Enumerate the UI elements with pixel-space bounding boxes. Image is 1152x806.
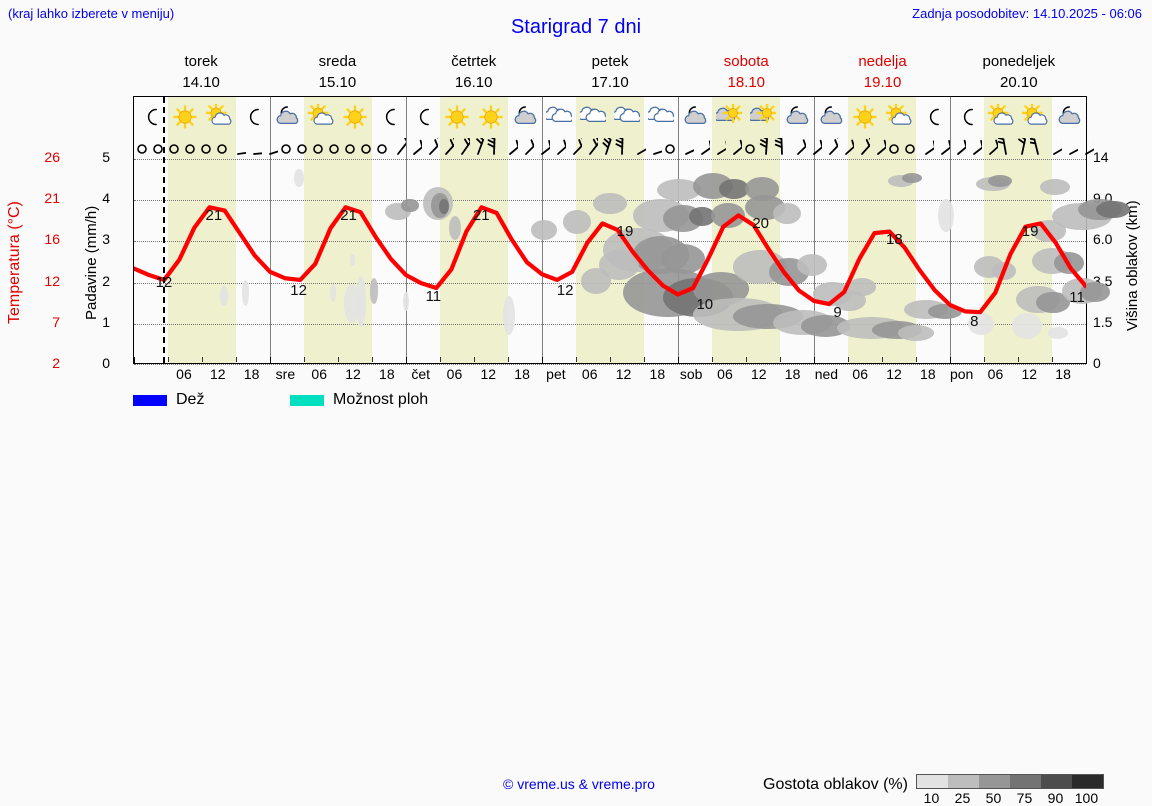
x-axis-label: čet: [404, 366, 438, 384]
prec-axis-tick: 4: [102, 190, 110, 206]
day-header-sreda: sreda15.10: [269, 50, 405, 94]
day-header-nedelja: nedelja19.10: [814, 50, 950, 94]
weather-icon-cell: [406, 97, 440, 137]
weather-icon-cell: [508, 97, 542, 137]
cloud-density-segment: [1041, 775, 1072, 788]
wind-calm-icon: [166, 138, 182, 158]
day-header-row: torek14.10sreda15.10četrtek16.10petek17.…: [133, 50, 1087, 94]
wind-barb-icon: [230, 138, 246, 158]
wind-barb-cell: [598, 137, 614, 159]
weather-icon-cell: [1018, 97, 1052, 137]
wind-barb-icon: [566, 138, 582, 158]
prec-axis-tick: 0: [102, 355, 110, 371]
wind-barb-icon: [966, 138, 982, 158]
x-axis-label: 06: [302, 366, 336, 384]
weather-icon-moon-cloud: [818, 104, 844, 130]
wind-barb-cell: [710, 137, 726, 159]
weather-icon-sun-cloud: [308, 104, 334, 130]
cloud-patch: [1096, 201, 1130, 219]
day-date: 16.10: [406, 72, 542, 93]
day-name: ponedeljek: [951, 51, 1087, 72]
weather-icon-sun-cloud: [988, 104, 1014, 130]
x-axis-label: 18: [640, 366, 674, 384]
cloud-density-segment: [1072, 775, 1103, 788]
temp-axis-tick: 2: [52, 355, 60, 371]
wind-barb-cell: [838, 137, 854, 159]
wind-barb-cell: [326, 137, 342, 159]
wind-barb-icon: [1030, 138, 1046, 158]
weather-icon-sun: [444, 104, 470, 130]
x-tick: [576, 357, 610, 362]
wind-barb-icon: [390, 138, 406, 158]
weather-icon-moon-cloud: [1056, 104, 1082, 130]
wind-barb-cell: [1078, 137, 1094, 159]
wind-calm-icon: [182, 138, 198, 158]
prec-axis-tick: 3: [102, 231, 110, 247]
cloud-density-segment: [979, 775, 1010, 788]
wind-barb-icon: [406, 138, 422, 158]
wind-barb-cell: [342, 137, 358, 159]
day-name: sreda: [269, 51, 405, 72]
weather-icon-cloud: [580, 104, 606, 130]
weather-icon-cloud: [614, 104, 640, 130]
wind-barb-icon: [950, 138, 966, 158]
x-tick: [610, 357, 644, 362]
cloud-density-bar: [916, 774, 1104, 789]
wind-barb-icon: [822, 138, 838, 158]
weather-icon-moon: [954, 104, 980, 130]
last-updated: Zadnja posodobitev: 14.10.2025 - 06:06: [912, 6, 1142, 21]
wind-barb-icon: [694, 138, 710, 158]
wind-barb-icon: [598, 138, 614, 158]
wind-barb-icon: [646, 138, 662, 158]
weather-icon-sun: [852, 104, 878, 130]
wind-barb-cell: [630, 137, 646, 159]
wind-barb-cell: [758, 137, 774, 159]
temperature-axis-title: Temperatura (°C): [6, 168, 24, 358]
day-date: 17.10: [542, 72, 678, 93]
wind-barb-cell: [1014, 137, 1030, 159]
wind-barb-cell: [774, 137, 790, 159]
wind-barb-cell: [246, 137, 262, 159]
x-tick: [678, 357, 712, 363]
wind-barb-cell: [406, 137, 422, 159]
weather-icon-cell: [712, 97, 746, 137]
day-name: torek: [133, 51, 269, 72]
x-tick: [780, 357, 814, 362]
temperature-point-label: 20: [752, 215, 769, 232]
wind-calm-icon: [342, 138, 358, 158]
wind-calm-icon: [742, 138, 758, 158]
wind-calm-icon: [886, 138, 902, 158]
cloud-density-segment: [1010, 775, 1041, 788]
wind-barb-cell: [518, 137, 534, 159]
wind-barb-cell: [390, 137, 406, 159]
weather-icon-cell: [440, 97, 474, 137]
wind-barb-cell: [742, 137, 758, 159]
wind-barb-icon: [678, 138, 694, 158]
weather-icon-cloud-sun: [750, 104, 776, 130]
wind-calm-icon: [662, 138, 678, 158]
wind-barb-icon: [550, 138, 566, 158]
weather-icon-cell: [950, 97, 984, 137]
wind-barb-cell: [582, 137, 598, 159]
x-tick: [372, 357, 406, 362]
wind-calm-icon: [374, 138, 390, 158]
wind-barb-cell: [662, 137, 678, 159]
x-tick: [236, 357, 270, 362]
cloud-density-tick: 10: [916, 790, 947, 806]
wind-calm-icon: [902, 138, 918, 158]
x-axis-label: 18: [1046, 366, 1080, 384]
showers-swatch: [290, 395, 324, 406]
temp-axis-tick: 16: [44, 231, 60, 247]
day-date: 20.10: [951, 72, 1087, 93]
day-header-ponedeljek: ponedeljek20.10: [951, 50, 1087, 94]
wind-barb-icon: [758, 138, 774, 158]
x-tick: [848, 357, 882, 362]
x-tick: [542, 357, 576, 363]
weather-icon-cell: [984, 97, 1018, 137]
wind-calm-icon: [278, 138, 294, 158]
x-tick: [1052, 357, 1086, 362]
weather-icon-moon-cloud: [512, 104, 538, 130]
weather-icon-cell: [916, 97, 950, 137]
precipitation-axis-title: Padavine (mm/h): [83, 170, 100, 356]
x-tick: [338, 357, 372, 362]
cloud-density-tick: 90: [1040, 790, 1071, 806]
temperature-point-label: 10: [696, 296, 713, 313]
wind-calm-icon: [214, 138, 230, 158]
plot-area: 1221122111211219102091881911: [134, 159, 1086, 363]
x-tick: [1018, 357, 1052, 362]
temperature-point-label: 21: [340, 207, 357, 224]
x-tick: [270, 357, 304, 363]
wind-barb-cell: [1062, 137, 1078, 159]
wind-barb-cell: [902, 137, 918, 159]
wind-barb-cell: [646, 137, 662, 159]
wind-barb-cell: [790, 137, 806, 159]
wind-barb-cell: [822, 137, 838, 159]
cloud-density-scale: 1025507590100: [916, 774, 1104, 806]
x-tick: [746, 357, 780, 362]
x-axis-label: 12: [742, 366, 776, 384]
prec-axis-tick: 5: [102, 149, 110, 165]
rain-swatch: [133, 395, 167, 406]
x-axis-label: 12: [336, 366, 370, 384]
cloud-height-axis-title: Višina oblakov (km): [1124, 168, 1141, 364]
temperature-point-label: 21: [473, 207, 490, 224]
weather-icon-cell: [168, 97, 202, 137]
wind-barb-icon: [710, 138, 726, 158]
wind-barb-cell: [614, 137, 630, 159]
wind-calm-icon: [326, 138, 342, 158]
x-tick: [440, 357, 474, 362]
temp-axis-tick: 7: [52, 314, 60, 330]
x-tick: [644, 357, 678, 362]
cloud-axis-tick: 1.5: [1093, 314, 1112, 330]
weather-icon-cell: [270, 97, 304, 137]
weather-icon-cell: [644, 97, 678, 137]
weather-icon-cloud: [648, 104, 674, 130]
wind-barb-cell: [694, 137, 710, 159]
prec-axis-tick: 2: [102, 273, 110, 289]
wind-barb-cell: [918, 137, 934, 159]
cloud-axis-tick: 0: [1093, 355, 1101, 371]
wind-barb-cell: [470, 137, 486, 159]
weather-icon-cell: [610, 97, 644, 137]
x-tick: [916, 357, 950, 362]
wind-barb-icon: [998, 138, 1014, 158]
wind-barb-cell: [678, 137, 694, 159]
wind-barb-cell: [998, 137, 1014, 159]
legend-rain: Dež: [133, 391, 204, 409]
prec-axis-tick: 1: [102, 314, 110, 330]
wind-barb-cell: [854, 137, 870, 159]
wind-barb-icon: [614, 138, 630, 158]
x-axis-label: 06: [979, 366, 1013, 384]
wind-barb-icon: [982, 138, 998, 158]
weather-icon-cell: [236, 97, 270, 137]
temperature-point-label: 12: [557, 282, 574, 299]
wind-calm-icon: [310, 138, 326, 158]
wind-barb-icon: [1062, 138, 1078, 158]
cloud-axis-tick: 14: [1093, 149, 1109, 165]
wind-barb-icon: [534, 138, 550, 158]
weather-icon-cell: [678, 97, 712, 137]
wind-barb-cell: [294, 137, 310, 159]
wind-barb-cell: [230, 137, 246, 159]
temperature-point-label: 11: [1069, 289, 1085, 306]
cloud-density-legend-label: Gostota oblakov (%): [763, 774, 908, 794]
wind-barb-icon: [246, 138, 262, 158]
weather-icon-cell: [780, 97, 814, 137]
weather-icon-cell: [746, 97, 780, 137]
wind-calm-icon: [198, 138, 214, 158]
cloud-density-tick: 50: [978, 790, 1009, 806]
weather-icon-moon: [240, 104, 266, 130]
x-tick: [882, 357, 916, 362]
wind-barb-icon: [838, 138, 854, 158]
wind-barb-icon: [630, 138, 646, 158]
weather-icon-sun-cloud: [1022, 104, 1048, 130]
wind-barb-cell: [726, 137, 742, 159]
wind-barb-row: [134, 137, 1086, 159]
temperature-point-label: 8: [970, 313, 978, 330]
wind-barb-cell: [934, 137, 950, 159]
day-header-sobota: sobota18.10: [678, 50, 814, 94]
wind-barb-icon: [454, 138, 470, 158]
weather-icon-cloud-sun: [716, 104, 742, 130]
temperature-point-label: 19: [1022, 223, 1039, 240]
wind-barb-cell: [1030, 137, 1046, 159]
wind-barb-cell: [214, 137, 230, 159]
weather-icon-cell: [576, 97, 610, 137]
x-axis-label: 06: [167, 366, 201, 384]
wind-barb-cell: [310, 137, 326, 159]
wind-barb-cell: [438, 137, 454, 159]
wind-barb-cell: [422, 137, 438, 159]
wind-barb-cell: [182, 137, 198, 159]
x-axis-label: 12: [471, 366, 505, 384]
cloud-density-segment: [948, 775, 979, 788]
day-name: nedelja: [814, 51, 950, 72]
wind-barb-icon: [790, 138, 806, 158]
temperature-point-label: 11: [426, 288, 442, 305]
cloud-density-segment: [917, 775, 948, 788]
wind-calm-icon: [134, 138, 150, 158]
copyright-link[interactable]: © vreme.us & vreme.pro: [503, 776, 655, 792]
weather-icon-sun: [342, 104, 368, 130]
wind-barb-cell: [262, 137, 278, 159]
wind-barb-icon: [486, 138, 502, 158]
weather-icon-sun: [172, 104, 198, 130]
temperature-point-label: 12: [290, 282, 307, 299]
temperature-point-label: 18: [886, 231, 903, 248]
day-header-petek: petek17.10: [542, 50, 678, 94]
x-axis-label: 12: [877, 366, 911, 384]
x-axis-label: pon: [945, 366, 979, 384]
wind-barb-icon: [438, 138, 454, 158]
weather-icon-cell: [542, 97, 576, 137]
temperature-point-label: 21: [205, 207, 222, 224]
wind-barb-cell: [166, 137, 182, 159]
cloud-axis-tick: 6.0: [1093, 231, 1112, 247]
wind-barb-cell: [454, 137, 470, 159]
x-axis-label: 18: [911, 366, 945, 384]
wind-barb-cell: [982, 137, 998, 159]
temp-axis-tick: 26: [44, 149, 60, 165]
legend-rain-label: Dež: [176, 391, 204, 409]
weather-icon-cell: [338, 97, 372, 137]
weather-icon-cell: [372, 97, 406, 137]
cloud-density-tick: 25: [947, 790, 978, 806]
x-axis-ticks: [134, 357, 1086, 363]
legend-showers: Možnost ploh: [290, 391, 428, 409]
temperature-line: [134, 207, 1086, 312]
day-header-torek: torek14.10: [133, 50, 269, 94]
wind-barb-cell: [198, 137, 214, 159]
temp-axis-tick: 12: [44, 273, 60, 289]
weather-icon-cell: [814, 97, 848, 137]
wind-barb-icon: [518, 138, 534, 158]
wind-barb-icon: [934, 138, 950, 158]
current-time-marker: [163, 97, 165, 363]
weather-icon-cell: [882, 97, 916, 137]
wind-barb-cell: [534, 137, 550, 159]
wind-barb-cell: [374, 137, 390, 159]
wind-barb-cell: [358, 137, 374, 159]
x-axis-label: 18: [370, 366, 404, 384]
x-axis-label: 12: [201, 366, 235, 384]
weather-icon-cell: [1052, 97, 1086, 137]
weather-icon-row: [134, 97, 1086, 137]
wind-calm-icon: [358, 138, 374, 158]
wind-barb-cell: [806, 137, 822, 159]
x-axis-label: 06: [708, 366, 742, 384]
wind-barb-cell: [278, 137, 294, 159]
x-tick: [168, 357, 202, 362]
temp-axis-tick: 21: [44, 190, 60, 206]
day-date: 15.10: [269, 72, 405, 93]
x-tick: [304, 357, 338, 362]
wind-barb-icon: [918, 138, 934, 158]
temperature-point-label: 9: [833, 304, 841, 321]
temperature-curve: [134, 159, 1086, 365]
weather-icon-sun: [478, 104, 504, 130]
temperature-point-label: 19: [617, 223, 634, 240]
weather-icon-moon: [138, 104, 164, 130]
x-axis-label: 18: [776, 366, 810, 384]
x-tick: [508, 357, 542, 362]
wind-barb-icon: [806, 138, 822, 158]
day-header-četrtek: četrtek16.10: [406, 50, 542, 94]
day-date: 14.10: [133, 72, 269, 93]
weather-icon-cell: [474, 97, 508, 137]
wind-barb-icon: [502, 138, 518, 158]
weather-icon-moon: [376, 104, 402, 130]
weather-icon-moon-cloud: [784, 104, 810, 130]
x-axis-label: 06: [573, 366, 607, 384]
wind-barb-icon: [262, 138, 278, 158]
x-axis-label: 18: [235, 366, 269, 384]
wind-barb-icon: [1014, 138, 1030, 158]
x-tick: [712, 357, 746, 362]
wind-barb-cell: [1046, 137, 1062, 159]
x-axis-label: 18: [505, 366, 539, 384]
weather-icon-moon-cloud: [682, 104, 708, 130]
x-tick: [202, 357, 236, 362]
x-axis-label: ned: [810, 366, 844, 384]
forecast-chart: 1221122111211219102091881911: [133, 96, 1087, 364]
cloud-density-tick: 75: [1009, 790, 1040, 806]
weather-icon-cell: [848, 97, 882, 137]
day-date: 18.10: [678, 72, 814, 93]
x-tick: [406, 357, 440, 363]
wind-barb-icon: [422, 138, 438, 158]
day-name: četrtek: [406, 51, 542, 72]
cloud-density-numbers: 1025507590100: [916, 790, 1104, 806]
x-tick: [814, 357, 848, 363]
wind-barb-cell: [886, 137, 902, 159]
x-tick: [984, 357, 1018, 362]
x-axis-labels: 061218sre061218čet061218pet061218sob0612…: [167, 366, 1080, 384]
cloud-density-legend: Gostota oblakov (%) 1025507590100: [763, 774, 1104, 806]
wind-barb-cell: [550, 137, 566, 159]
cloud-density-tick: 100: [1071, 790, 1102, 806]
x-axis-label: 12: [607, 366, 641, 384]
day-name: petek: [542, 51, 678, 72]
weather-icon-cell: [202, 97, 236, 137]
weather-icon-moon-cloud: [274, 104, 300, 130]
weather-icon-moon: [410, 104, 436, 130]
wind-barb-cell: [486, 137, 502, 159]
wind-barb-cell: [502, 137, 518, 159]
weather-icon-sun-cloud: [886, 104, 912, 130]
wind-barb-icon: [870, 138, 886, 158]
x-axis-label: sre: [269, 366, 303, 384]
wind-barb-icon: [1078, 138, 1094, 158]
x-tick: [950, 357, 984, 363]
wind-barb-icon: [854, 138, 870, 158]
weather-icon-sun-cloud: [206, 104, 232, 130]
x-axis-label: sob: [674, 366, 708, 384]
day-date: 19.10: [814, 72, 950, 93]
wind-barb-cell: [966, 137, 982, 159]
wind-barb-icon: [774, 138, 790, 158]
wind-calm-icon: [294, 138, 310, 158]
legend-showers-label: Možnost ploh: [333, 391, 428, 409]
